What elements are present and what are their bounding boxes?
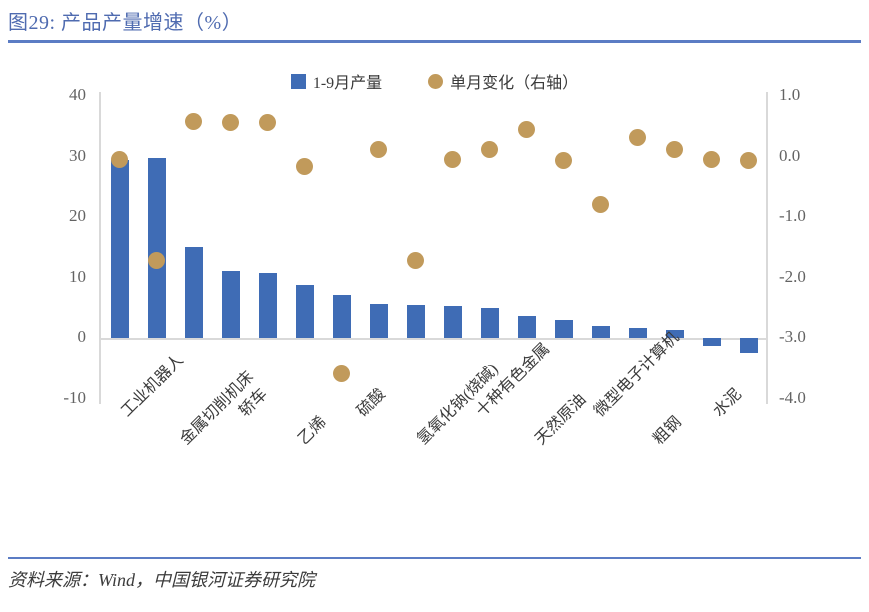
source-note: 资料来源：Wind，中国银河证券研究院	[8, 566, 315, 592]
bar	[222, 271, 240, 338]
data-point-dot	[333, 365, 350, 382]
bar	[555, 320, 573, 338]
left-axis-tick: 30	[30, 146, 86, 166]
data-point-dot	[444, 151, 461, 168]
data-point-dot	[629, 129, 646, 146]
left-axis-tick: 20	[30, 206, 86, 226]
bar	[703, 338, 721, 346]
category-label: 粗钢	[646, 409, 686, 449]
category-axis-labels: 工业机器人金属切削机床轿车乙烯硫酸氢氧化钠(烧碱)十种有色金属天然原油微型电子计…	[0, 398, 869, 558]
bar	[259, 273, 277, 338]
data-point-dot	[370, 141, 387, 158]
left-axis-tick: 0	[30, 327, 86, 347]
bar	[518, 316, 536, 338]
data-point-dot	[518, 121, 535, 138]
data-point-dot	[481, 141, 498, 158]
bar	[444, 306, 462, 338]
left-axis-tick: 10	[30, 267, 86, 287]
right-axis-tick: -2.0	[779, 267, 835, 287]
right-axis-tick: 0.0	[779, 146, 835, 166]
data-point-dot	[555, 152, 572, 169]
bar	[296, 285, 314, 338]
bar	[111, 160, 129, 338]
data-point-dot	[592, 196, 609, 213]
source-divider	[8, 557, 861, 559]
bar	[629, 328, 647, 338]
right-axis-tick: 1.0	[779, 85, 835, 105]
category-label: 乙烯	[291, 409, 331, 449]
data-point-dot	[259, 114, 276, 131]
data-point-dot	[222, 114, 239, 131]
left-axis-tick: 40	[30, 85, 86, 105]
right-axis-tick: -1.0	[779, 206, 835, 226]
bar	[185, 247, 203, 338]
production-growth-chart: 403020100-10 1.00.0-1.0-2.0-3.0-4.0 工业机器…	[0, 0, 869, 560]
bar	[481, 308, 499, 338]
bar	[740, 338, 758, 353]
data-point-dot	[740, 152, 757, 169]
bar	[333, 295, 351, 338]
data-point-dot	[666, 141, 683, 158]
data-point-dot	[407, 252, 424, 269]
data-point-dot	[703, 151, 720, 168]
bar	[148, 158, 166, 338]
right-axis-tick: -3.0	[779, 327, 835, 347]
bar	[592, 326, 610, 338]
bar	[370, 304, 388, 338]
data-point-dot	[185, 113, 202, 130]
data-point-dot	[111, 151, 128, 168]
bar	[407, 305, 425, 338]
data-point-dot	[296, 158, 313, 175]
